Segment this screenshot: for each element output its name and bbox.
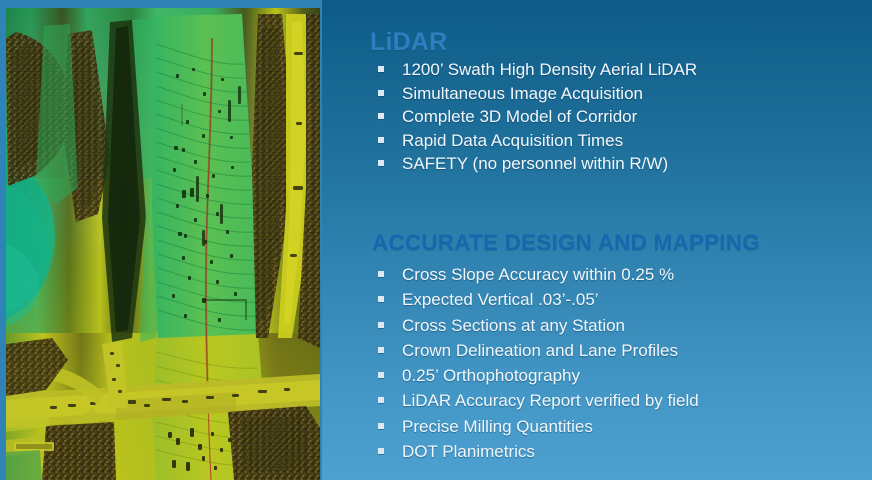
list-item-label: SAFETY (no personnel within R/W): [402, 154, 668, 173]
list-item: Complete 3D Model of Corridor: [374, 105, 697, 129]
accurate-design-bullet-list: Cross Slope Accuracy within 0.25 % Expec…: [374, 262, 699, 464]
list-item-label: Precise Milling Quantities: [402, 417, 593, 436]
list-item-label: 1200’ Swath High Density Aerial LiDAR: [402, 60, 697, 79]
list-item: 1200’ Swath High Density Aerial LiDAR: [374, 58, 697, 82]
list-item-label: Simultaneous Image Acquisition: [402, 84, 643, 103]
list-item-label: Expected Vertical .03’-.05’: [402, 290, 599, 309]
bullet-square-icon: [378, 397, 384, 403]
list-item: Crown Delineation and Lane Profiles: [374, 338, 699, 363]
list-item: SAFETY (no personnel within R/W): [374, 152, 697, 176]
bullet-square-icon: [378, 372, 384, 378]
list-item-label: Cross Slope Accuracy within 0.25 %: [402, 265, 674, 284]
list-item: Precise Milling Quantities: [374, 414, 699, 439]
bullet-square-icon: [378, 448, 384, 454]
lidar-bullet-list: 1200’ Swath High Density Aerial LiDAR Si…: [374, 58, 697, 176]
lidar-image-panel: [0, 0, 322, 480]
list-item-label: Cross Sections at any Station: [402, 316, 625, 335]
bullet-square-icon: [378, 160, 384, 166]
list-item-label: DOT Planimetrics: [402, 442, 535, 461]
bullet-square-icon: [378, 296, 384, 302]
list-item: Cross Sections at any Station: [374, 313, 699, 338]
section-heading-lidar: LiDAR: [370, 28, 447, 57]
list-item-label: 0.25’ Orthophotography: [402, 366, 580, 385]
bullet-square-icon: [378, 90, 384, 96]
list-item: LiDAR Accuracy Report verified by field: [374, 388, 699, 413]
bullet-square-icon: [378, 137, 384, 143]
list-item: Expected Vertical .03’-.05’: [374, 287, 699, 312]
lidar-point-cloud-graphic: [6, 8, 320, 480]
bullet-square-icon: [378, 271, 384, 277]
bullet-square-icon: [378, 423, 384, 429]
bullet-square-icon: [378, 66, 384, 72]
list-item-label: Crown Delineation and Lane Profiles: [402, 341, 678, 360]
bullet-square-icon: [378, 322, 384, 328]
list-item: 0.25’ Orthophotography: [374, 363, 699, 388]
list-item: DOT Planimetrics: [374, 439, 699, 464]
text-content-column: LiDAR 1200’ Swath High Density Aerial Li…: [322, 0, 872, 480]
lidar-point-cloud-image: [6, 8, 320, 480]
bullet-square-icon: [378, 347, 384, 353]
list-item-label: LiDAR Accuracy Report verified by field: [402, 391, 699, 410]
list-item: Cross Slope Accuracy within 0.25 %: [374, 262, 699, 287]
bullet-square-icon: [378, 113, 384, 119]
list-item-label: Complete 3D Model of Corridor: [402, 107, 637, 126]
slide-root: LiDAR 1200’ Swath High Density Aerial Li…: [0, 0, 872, 480]
list-item: Simultaneous Image Acquisition: [374, 82, 697, 106]
list-item: Rapid Data Acquisition Times: [374, 129, 697, 153]
list-item-label: Rapid Data Acquisition Times: [402, 131, 623, 150]
section-heading-accurate-design-and-mapping: ACCURATE DESIGN AND MAPPING: [372, 230, 760, 256]
